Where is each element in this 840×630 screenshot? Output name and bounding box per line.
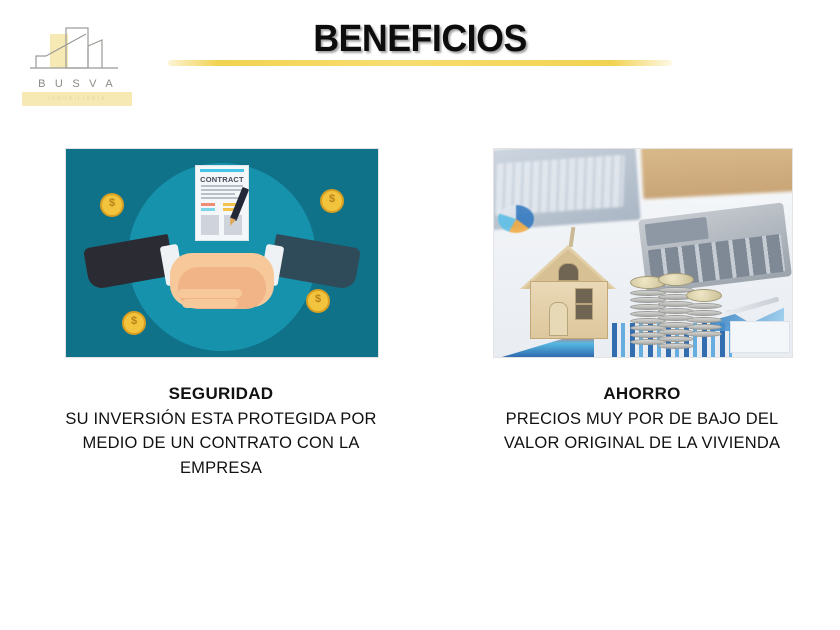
- logo-tagline-band: INMOBILIARIA: [22, 92, 132, 106]
- title-underline-rule: [168, 60, 672, 66]
- paper-sheet: [730, 321, 790, 353]
- house-model-coins-photo: [493, 148, 793, 358]
- benefit-body: PRECIOS MUY POR DE BAJO DEL VALOR ORIGIN…: [493, 407, 791, 456]
- logo-tagline: INMOBILIARIA: [22, 92, 132, 106]
- coin-icon: $: [320, 189, 344, 213]
- benefit-body: SU INVERSIÓN ESTA PROTEGIDA POR MEDIO DE…: [65, 407, 377, 480]
- pie-chart-graphic: [498, 205, 534, 233]
- house-window: [575, 288, 593, 304]
- document-header-bar: [200, 169, 244, 172]
- caption-ahorro: AHORRO PRECIOS MUY POR DE BAJO DEL VALOR…: [493, 384, 791, 456]
- handshake-contract-illustration: CONTRACT $ $ $ $: [65, 148, 379, 358]
- house-attic-window: [558, 263, 579, 281]
- benefit-heading: AHORRO: [493, 384, 791, 404]
- coin-stack: [686, 289, 720, 337]
- house-window: [575, 304, 593, 320]
- coin-icon: $: [100, 193, 124, 217]
- house-door: [549, 302, 568, 336]
- calculator-screen: [645, 217, 709, 246]
- house-body: [530, 281, 608, 339]
- page-title: BENEFICIOS: [25, 18, 815, 61]
- illustration-canvas: CONTRACT $ $ $ $: [66, 149, 378, 357]
- contract-label: CONTRACT: [196, 175, 248, 184]
- wood-surface: [641, 149, 792, 199]
- benefit-heading: SEGURIDAD: [65, 384, 377, 404]
- caption-seguridad: SEGURIDAD SU INVERSIÓN ESTA PROTEGIDA PO…: [65, 384, 377, 480]
- coin-icon: $: [306, 289, 330, 313]
- coin-icon: $: [122, 311, 146, 335]
- wooden-house-model: [522, 231, 614, 339]
- photo-canvas: [494, 149, 792, 357]
- slide-canvas: B U S V A INMOBILIARIA BENEFICIOS CONTRA…: [0, 0, 840, 630]
- benefit-column-seguridad: CONTRACT $ $ $ $: [65, 148, 377, 480]
- benefit-column-ahorro: AHORRO PRECIOS MUY POR DE BAJO DEL VALOR…: [493, 148, 791, 456]
- logo-wordmark: B U S V A: [22, 78, 132, 90]
